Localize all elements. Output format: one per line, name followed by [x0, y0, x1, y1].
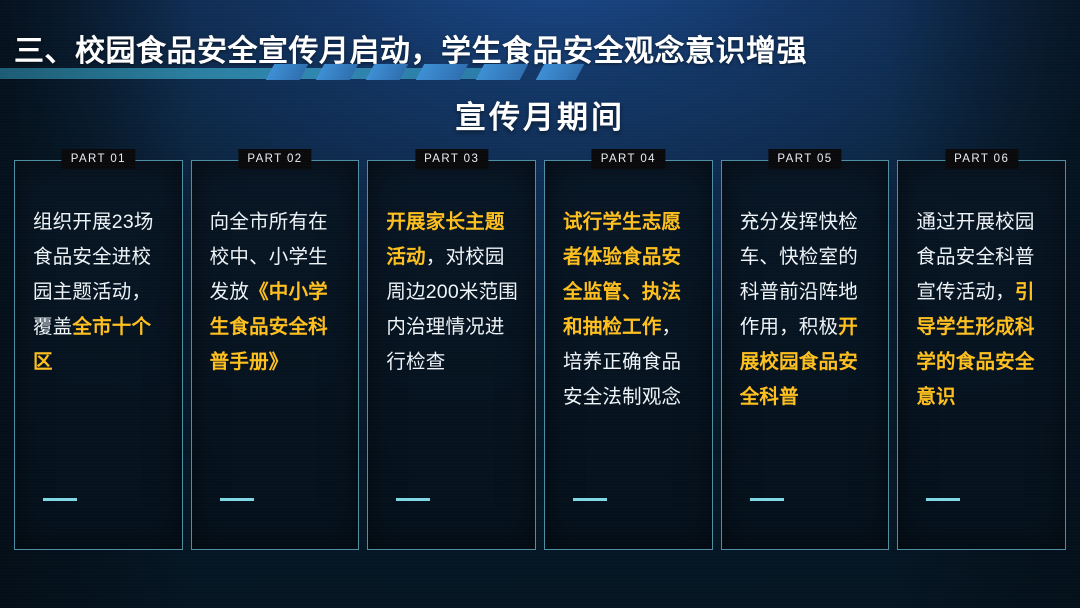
part-card: PART 01组织开展23场食品安全进校园主题活动，覆盖全市十个区	[14, 160, 183, 550]
part-card: PART 02向全市所有在校中、小学生发放《中小学生食品安全科普手册》	[191, 160, 360, 550]
part-badge: PART 06	[945, 149, 1018, 169]
card-divider-dash	[220, 498, 254, 501]
part-card-body: 通过开展校园食品安全科普宣传活动，引导学生形成科学的食品安全意识	[898, 161, 1065, 549]
part-card: PART 03开展家长主题活动，对校园周边200米范围内治理情况进行检查	[367, 160, 536, 550]
part-card: PART 04试行学生志愿者体验食品安全监管、执法和抽检工作，培养正确食品安全法…	[544, 160, 713, 550]
slide-header: 三、校园食品安全宣传月启动，学生食品安全观念意识增强	[0, 0, 1080, 88]
part-card-text: 试行学生志愿者体验食品安全监管、执法和抽检工作，培养正确食品安全法制观念	[563, 205, 698, 415]
part-card-text: 通过开展校园食品安全科普宣传活动，引导学生形成科学的食品安全意识	[916, 205, 1051, 415]
card-divider-dash	[750, 498, 784, 501]
part-badge: PART 01	[62, 149, 135, 169]
diagonal-stripes-decoration	[270, 64, 600, 80]
part-card-body: 充分发挥快检车、快检室的科普前沿阵地作用，积极开展校园食品安全科普	[722, 161, 889, 549]
part-card-text: 向全市所有在校中、小学生发放《中小学生食品安全科普手册》	[210, 205, 345, 380]
part-card-body: 组织开展23场食品安全进校园主题活动，覆盖全市十个区	[15, 161, 182, 549]
part-card-text: 开展家长主题活动，对校园周边200米范围内治理情况进行检查	[386, 205, 521, 380]
card-divider-dash	[573, 498, 607, 501]
part-card-text: 充分发挥快检车、快检室的科普前沿阵地作用，积极开展校园食品安全科普	[740, 205, 875, 415]
part-card-text: 组织开展23场食品安全进校园主题活动，覆盖全市十个区	[33, 205, 168, 380]
part-card: PART 05充分发挥快检车、快检室的科普前沿阵地作用，积极开展校园食品安全科普	[721, 160, 890, 550]
part-card-body: 开展家长主题活动，对校园周边200米范围内治理情况进行检查	[368, 161, 535, 549]
part-badge: PART 04	[592, 149, 665, 169]
card-divider-dash	[43, 498, 77, 501]
part-cards-row: PART 01组织开展23场食品安全进校园主题活动，覆盖全市十个区PART 02…	[14, 160, 1066, 550]
part-card-body: 向全市所有在校中、小学生发放《中小学生食品安全科普手册》	[192, 161, 359, 549]
slide-root: 三、校园食品安全宣传月启动，学生食品安全观念意识增强 宣传月期间 PART 01…	[0, 0, 1080, 608]
part-card-body: 试行学生志愿者体验食品安全监管、执法和抽检工作，培养正确食品安全法制观念	[545, 161, 712, 549]
part-badge: PART 02	[238, 149, 311, 169]
section-subtitle: 宣传月期间	[0, 92, 1080, 137]
part-badge: PART 05	[768, 149, 841, 169]
card-divider-dash	[396, 498, 430, 501]
part-badge: PART 03	[415, 149, 488, 169]
card-divider-dash	[926, 498, 960, 501]
part-card: PART 06通过开展校园食品安全科普宣传活动，引导学生形成科学的食品安全意识	[897, 160, 1066, 550]
